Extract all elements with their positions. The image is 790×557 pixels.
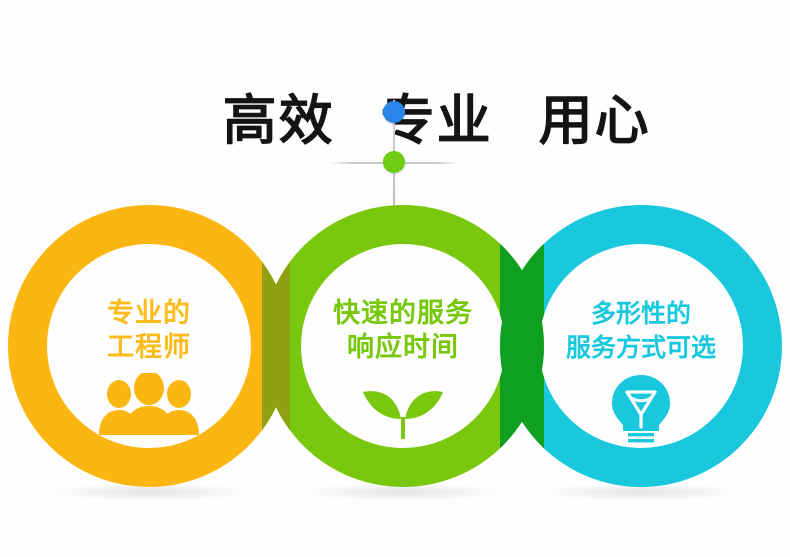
headline-segment-1: 高效	[223, 90, 335, 152]
poster-canvas: 高效专业用心 专业的 工程师	[0, 0, 790, 557]
ring-orange	[8, 205, 290, 487]
ring-green-annulus	[262, 205, 544, 487]
blue-dot-icon	[383, 101, 405, 123]
green-dot-icon	[383, 151, 405, 173]
headline-segment-3: 用心	[539, 90, 651, 152]
ring-orange-annulus	[8, 205, 290, 487]
ring-green	[262, 205, 544, 487]
